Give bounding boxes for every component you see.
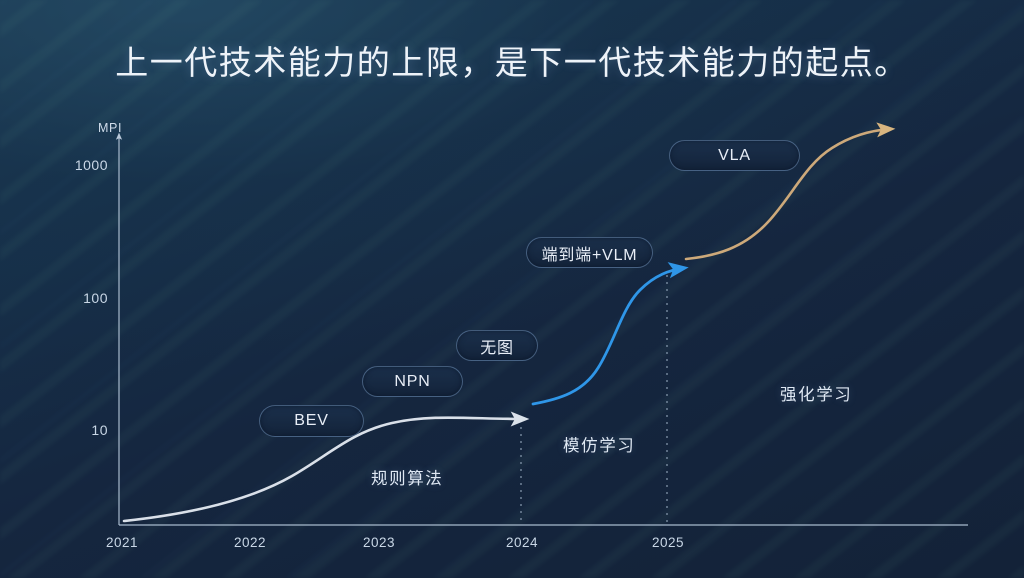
callout-pill-e2e-vlm[interactable]: 端到端+VLM (526, 237, 653, 268)
x-tick-2022: 2022 (215, 535, 285, 550)
y-tick-100: 100 (62, 290, 108, 306)
x-tick-2025: 2025 (633, 535, 703, 550)
growth-curve-chart (0, 0, 1024, 578)
slide-canvas: 上一代技术能力的上限，是下一代技术能力的起点。 (0, 0, 1024, 578)
callout-pill-wutu[interactable]: 无图 (456, 330, 538, 361)
callout-pill-bev[interactable]: BEV (259, 405, 364, 437)
x-tick-2024: 2024 (487, 535, 557, 550)
phase-label-imitation: 模仿学习 (563, 432, 635, 456)
x-tick-2023: 2023 (344, 535, 414, 550)
curve-imitation (533, 268, 684, 404)
phase-label-reinforcement: 强化学习 (780, 381, 852, 405)
y-axis-title: MPI (98, 121, 122, 135)
y-tick-1000: 1000 (62, 157, 108, 173)
callout-pill-npn[interactable]: NPN (362, 366, 463, 397)
callout-pill-vla[interactable]: VLA (669, 140, 800, 171)
x-tick-2021: 2021 (87, 535, 157, 550)
phase-label-rule-based: 规则算法 (371, 465, 443, 489)
y-tick-10: 10 (62, 422, 108, 438)
